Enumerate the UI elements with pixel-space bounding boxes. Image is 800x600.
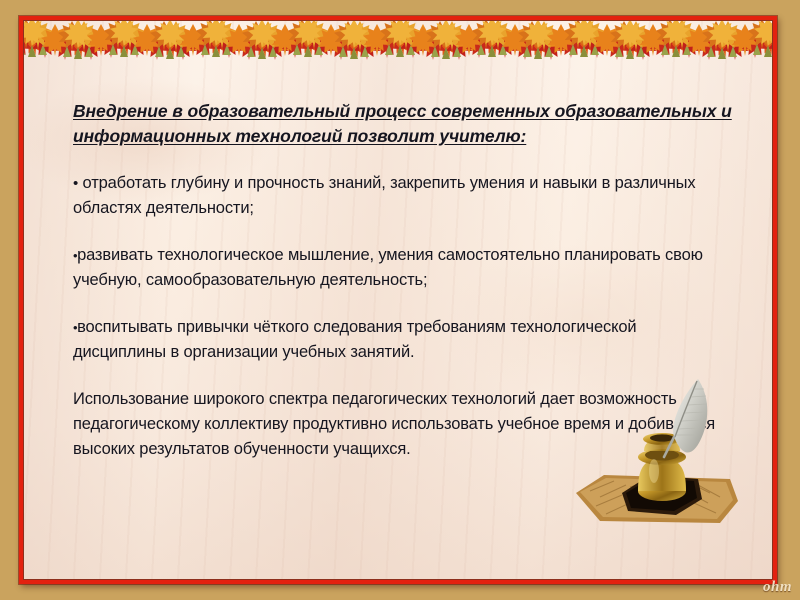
bullet-item-3: •воспитывать привычки чёткого следования… [73,315,733,365]
slide-heading: Внедрение в образовательный процесс совр… [73,99,733,149]
maple-leaf-band-decoration [24,21,772,61]
paper-panel: Внедрение в образовательный процесс совр… [23,20,773,580]
inkwell-with-quill-icon [570,375,750,545]
slide-frame: Внедрение в образовательный процесс совр… [19,16,777,584]
watermark-label: ohm [763,579,792,596]
slide-canvas: Внедрение в образовательный процесс совр… [0,0,800,600]
quill-feather [664,379,707,457]
bullet-item-2: •развивать технологическое мышление, уме… [73,243,733,293]
bullet-text: воспитывать привычки чёткого следования … [73,318,636,361]
bullet-item-1: • отработать глубину и прочность знаний,… [73,171,733,221]
bullet-text: развивать технологическое мышление, умен… [73,246,703,289]
bullet-text: отработать глубину и прочность знаний, з… [73,174,696,217]
